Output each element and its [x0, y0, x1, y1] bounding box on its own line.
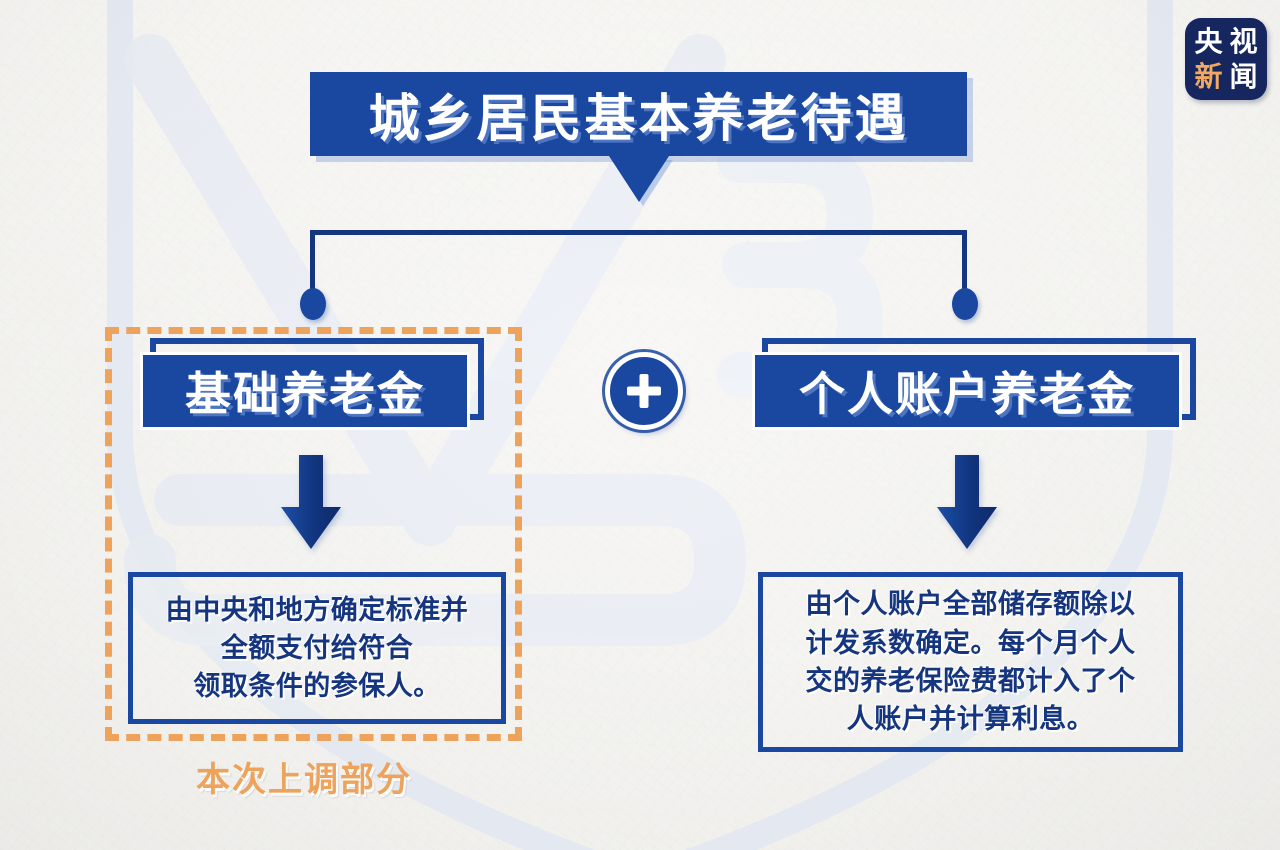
plus-operator-icon [605, 352, 683, 430]
title-pointer-triangle [609, 156, 669, 202]
description-line: 全额支付给符合 [221, 629, 414, 667]
basic-pension-fill: 基础养老金 [140, 352, 470, 430]
description-line: 交的养老保险费都计入了个 [806, 662, 1136, 700]
infographic-canvas: 城乡居民基本养老待遇 基础养老金 个人账户养老金 [0, 0, 1280, 850]
arrow-down-icon-right [936, 455, 998, 550]
page-title: 城乡居民基本养老待遇 [310, 72, 967, 156]
description-box-basic-pension: 由中央和地方确定标准并 全额支付给符合 领取条件的参保人。 [128, 572, 506, 724]
node-personal-account-pension[interactable]: 个人账户养老金 [752, 352, 1182, 430]
logo-char-wen: 闻 [1229, 63, 1257, 91]
connector-horizontal [310, 230, 967, 235]
highlight-caption: 本次上调部分 [196, 752, 412, 801]
personal-pension-label: 个人账户养老金 [799, 358, 1135, 424]
basic-pension-label: 基础养老金 [185, 358, 425, 424]
description-line: 计发系数确定。每个月个人 [806, 624, 1136, 662]
personal-pension-fill: 个人账户养老金 [752, 352, 1182, 430]
description-line: 人账户并计算利息。 [847, 700, 1095, 738]
logo-char-shi: 视 [1229, 28, 1257, 56]
page-title-banner: 城乡居民基本养老待遇 [310, 72, 967, 156]
description-line: 领取条件的参保人。 [193, 667, 441, 705]
logo-char-xin: 新 [1194, 63, 1222, 91]
logo-char-yang: 央 [1194, 28, 1222, 56]
connector-node-dot-left [300, 288, 326, 320]
arrow-down-icon-left [280, 455, 342, 550]
title-banner-fill: 城乡居民基本养老待遇 [310, 72, 967, 156]
description-box-personal-pension: 由个人账户全部储存额除以 计发系数确定。每个月个人 交的养老保险费都计入了个 人… [758, 572, 1183, 752]
cctv-news-logo: 央 视 新 闻 [1185, 18, 1267, 100]
description-line: 由中央和地方确定标准并 [166, 591, 469, 629]
node-basic-pension[interactable]: 基础养老金 [140, 352, 470, 430]
connector-node-dot-right [952, 288, 978, 320]
description-line: 由个人账户全部储存额除以 [806, 585, 1136, 623]
